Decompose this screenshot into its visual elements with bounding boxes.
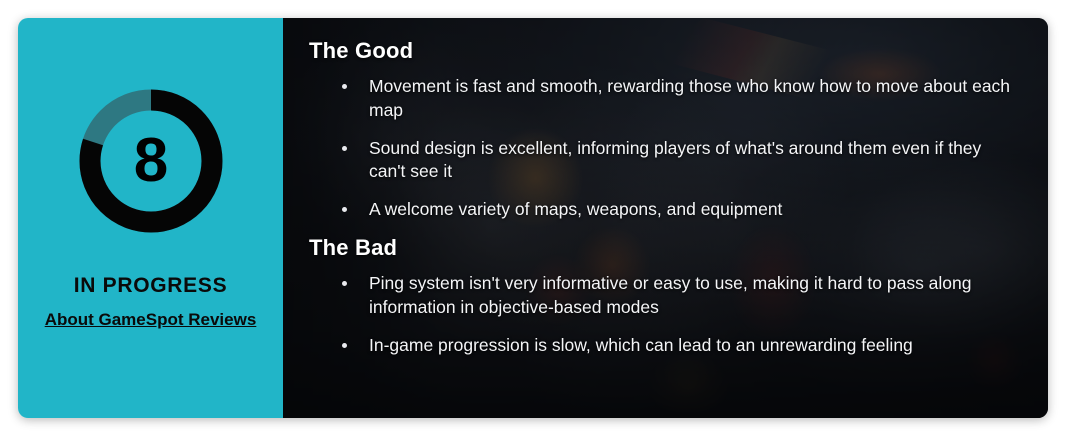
bullet-item: Ping system isn't very informative or ea… bbox=[309, 272, 1022, 320]
bullet-item: A welcome variety of maps, weapons, and … bbox=[309, 198, 1022, 222]
bullet-dot-icon bbox=[342, 281, 347, 286]
bullet-item: Movement is fast and smooth, rewarding t… bbox=[309, 75, 1022, 123]
bullet-dot-icon bbox=[342, 84, 347, 89]
bullet-dot-icon bbox=[342, 207, 347, 212]
review-verdict-page: 8 IN PROGRESS About GameSpot Reviews Th bbox=[0, 0, 1065, 437]
section-heading-good: The Good bbox=[309, 38, 1022, 64]
score-status-label: IN PROGRESS bbox=[74, 274, 228, 298]
score-panel: 8 IN PROGRESS About GameSpot Reviews bbox=[18, 18, 283, 418]
review-verdict-card: 8 IN PROGRESS About GameSpot Reviews Th bbox=[18, 18, 1048, 418]
about-gamespot-reviews-link[interactable]: About GameSpot Reviews bbox=[45, 310, 257, 330]
bullet-list-good: Movement is fast and smooth, rewarding t… bbox=[309, 75, 1022, 222]
score-ring: 8 bbox=[78, 88, 224, 234]
bullet-text: A welcome variety of maps, weapons, and … bbox=[369, 199, 782, 219]
verdict-section-bad: The Bad Ping system isn't very informati… bbox=[309, 235, 1022, 357]
bullet-text: Sound design is excellent, informing pla… bbox=[369, 138, 981, 182]
bullet-text: In-game progression is slow, which can l… bbox=[369, 335, 913, 355]
bullet-text: Ping system isn't very informative or ea… bbox=[369, 273, 972, 317]
verdict-section-good: The Good Movement is fast and smooth, re… bbox=[309, 38, 1022, 222]
bullet-item: Sound design is excellent, informing pla… bbox=[309, 137, 1022, 185]
section-heading-bad: The Bad bbox=[309, 235, 1022, 261]
bullet-text: Movement is fast and smooth, rewarding t… bbox=[369, 76, 1010, 120]
bullet-dot-icon bbox=[342, 343, 347, 348]
verdict-content-panel: The Good Movement is fast and smooth, re… bbox=[283, 18, 1048, 418]
score-value: 8 bbox=[78, 88, 224, 234]
bullet-list-bad: Ping system isn't very informative or ea… bbox=[309, 272, 1022, 357]
bullet-item: In-game progression is slow, which can l… bbox=[309, 334, 1022, 358]
bullet-dot-icon bbox=[342, 146, 347, 151]
verdict-text-body: The Good Movement is fast and smooth, re… bbox=[283, 18, 1048, 367]
